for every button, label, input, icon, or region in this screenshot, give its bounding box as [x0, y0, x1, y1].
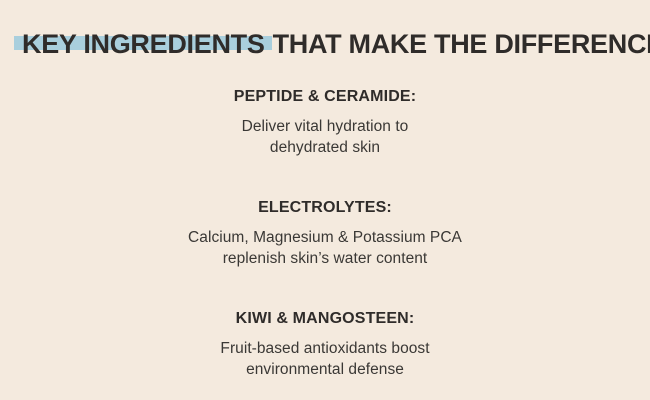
ingredient-heading: KIWI & MANGOSTEEN: [0, 308, 650, 330]
ingredient-description-line: dehydrated skin [0, 137, 650, 158]
ingredient-description-line: Calcium, Magnesium & Potassium PCA [0, 227, 650, 248]
ingredients-infographic: KEY INGREDIENTSTHAT MAKE THE DIFFERENCE … [0, 0, 650, 400]
ingredient-section: KIWI & MANGOSTEEN: Fruit-based antioxida… [0, 308, 650, 380]
ingredient-description: Fruit-based antioxidants boost environme… [0, 338, 650, 380]
ingredient-section: PEPTIDE & CERAMIDE: Deliver vital hydrat… [0, 86, 650, 158]
ingredient-description-line: environmental defense [0, 359, 650, 380]
ingredients-list: PEPTIDE & CERAMIDE: Deliver vital hydrat… [0, 86, 650, 380]
ingredient-heading: PEPTIDE & CERAMIDE: [0, 86, 650, 108]
ingredient-description: Calcium, Magnesium & Potassium PCA reple… [0, 227, 650, 269]
ingredient-description: Deliver vital hydration to dehydrated sk… [0, 116, 650, 158]
ingredient-description-line: Deliver vital hydration to [0, 116, 650, 137]
title-highlight: KEY INGREDIENTS [14, 28, 272, 60]
page-title: KEY INGREDIENTSTHAT MAKE THE DIFFERENCE [0, 28, 650, 60]
ingredient-description-line: replenish skin’s water content [0, 248, 650, 269]
title-rest-text: THAT MAKE THE DIFFERENCE [273, 29, 650, 59]
ingredient-section: ELECTROLYTES: Calcium, Magnesium & Potas… [0, 197, 650, 269]
ingredient-description-line: Fruit-based antioxidants boost [0, 338, 650, 359]
ingredient-heading: ELECTROLYTES: [0, 197, 650, 219]
title-highlighted-text: KEY INGREDIENTS [22, 29, 265, 59]
